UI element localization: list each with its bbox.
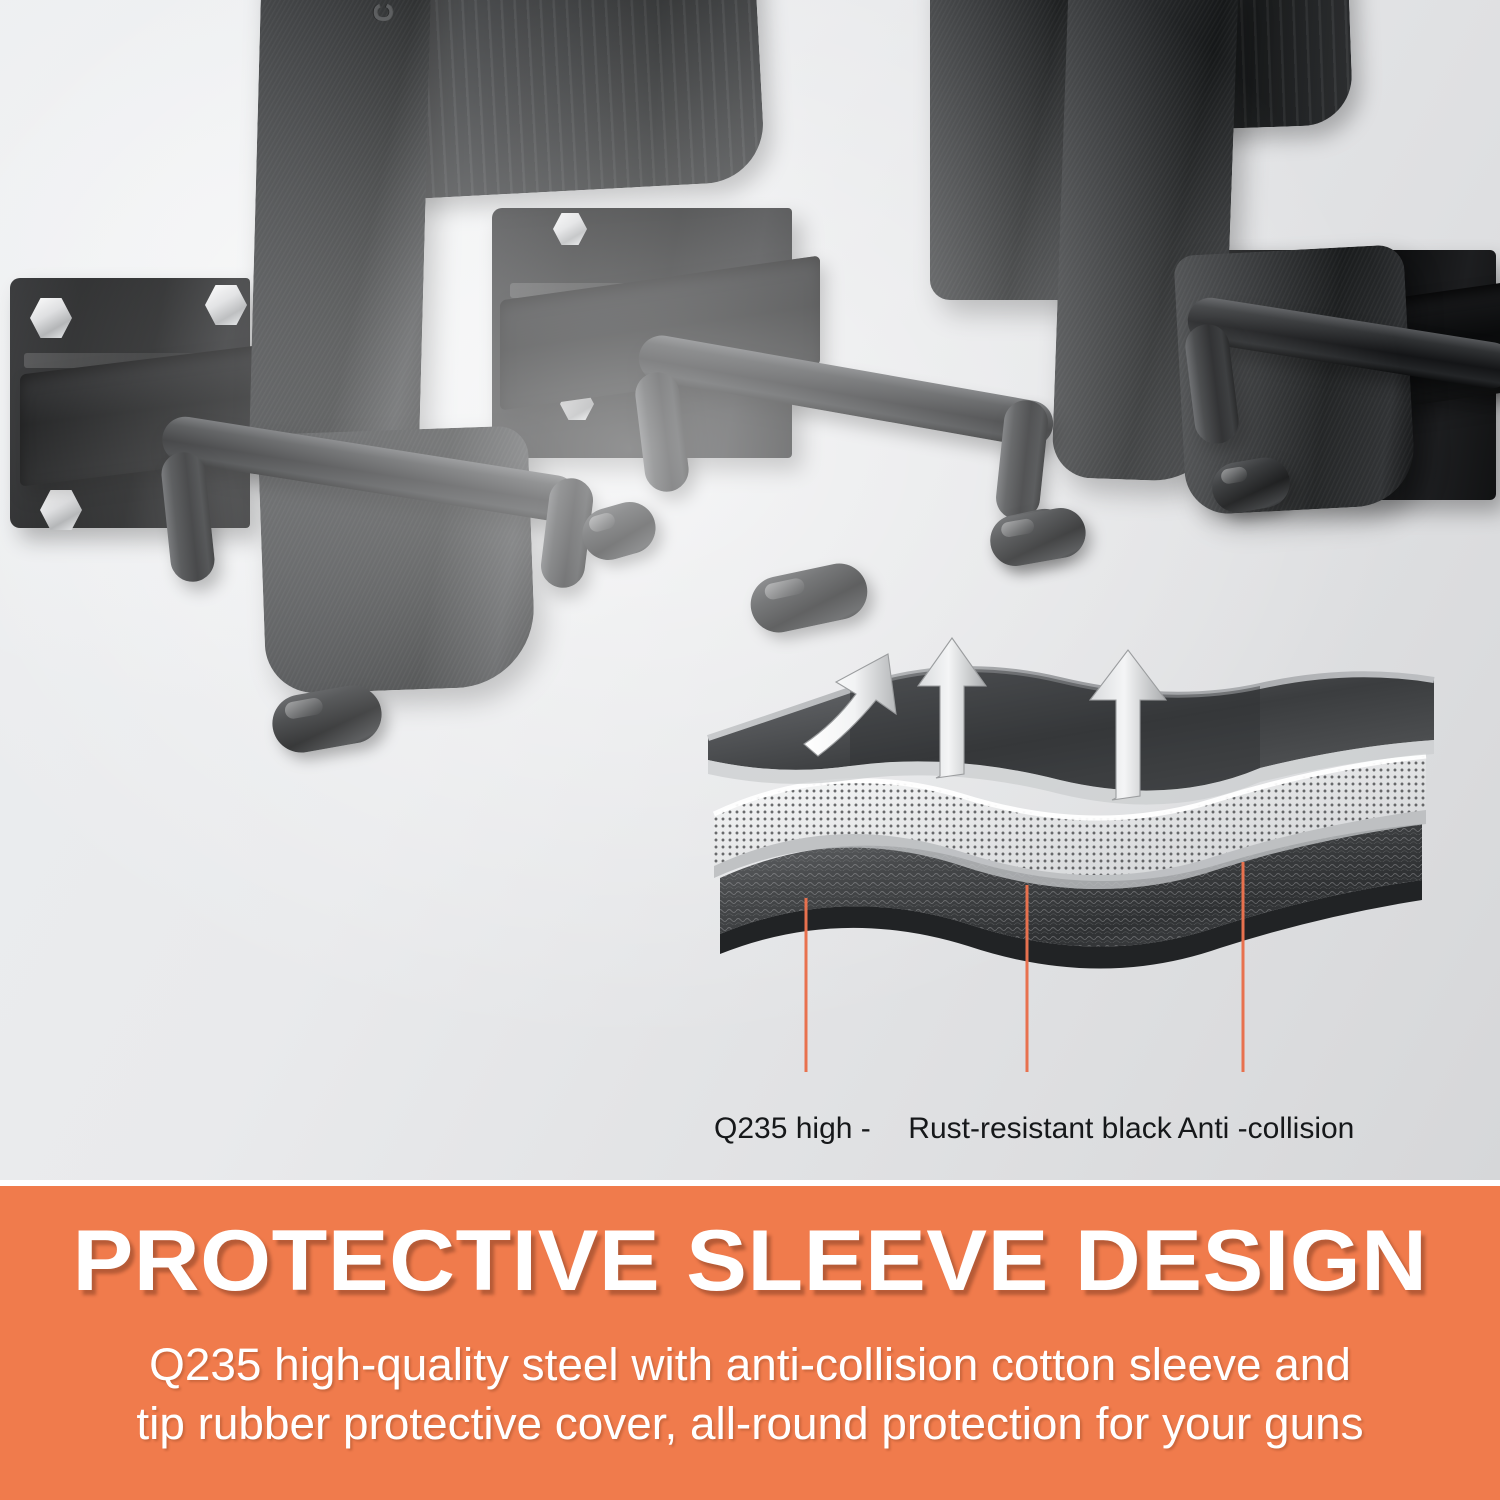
callout-label-cotton: Anti -collision cotton sleeve (1166, 1072, 1366, 1180)
rubber-peg-left (268, 681, 386, 757)
protective-sleeve-layer-diagram (700, 628, 1440, 1058)
callout-label-coating: Rust-resistant black powder coating (906, 1072, 1174, 1180)
banner-subtitle-line1: Q235 high-quality steel with anti-collis… (26, 1336, 1474, 1395)
product-emboss-label: CN-QE39 (368, 0, 399, 22)
product-feature-image: CN-QE39 (0, 0, 1500, 1500)
callout-steel-line1: Q235 high - (714, 1112, 871, 1145)
rifle-body-left (248, 0, 432, 482)
rubber-peg-right (986, 504, 1089, 570)
banner-subtitle-line2: tip rubber protective cover, all-round p… (26, 1395, 1474, 1454)
feature-banner: PROTECTIVE SLEEVE DESIGN Q235 high-quali… (0, 1186, 1500, 1500)
rubber-peg-middle (745, 558, 872, 637)
callout-cotton-line1: Anti -collision (1178, 1112, 1355, 1145)
product-photo: CN-QE39 (0, 0, 1500, 1180)
rifle-magazine-left (394, 0, 766, 199)
banner-headline: PROTECTIVE SLEEVE DESIGN (0, 1212, 1500, 1311)
callout-labels: Q235 high - quality steel Rust-resistant… (700, 1072, 1380, 1172)
banner-subtitle: Q235 high-quality steel with anti-collis… (26, 1336, 1474, 1453)
callout-label-steel: Q235 high - quality steel (714, 1072, 924, 1180)
callout-coating-line1: Rust-resistant black (908, 1112, 1171, 1145)
